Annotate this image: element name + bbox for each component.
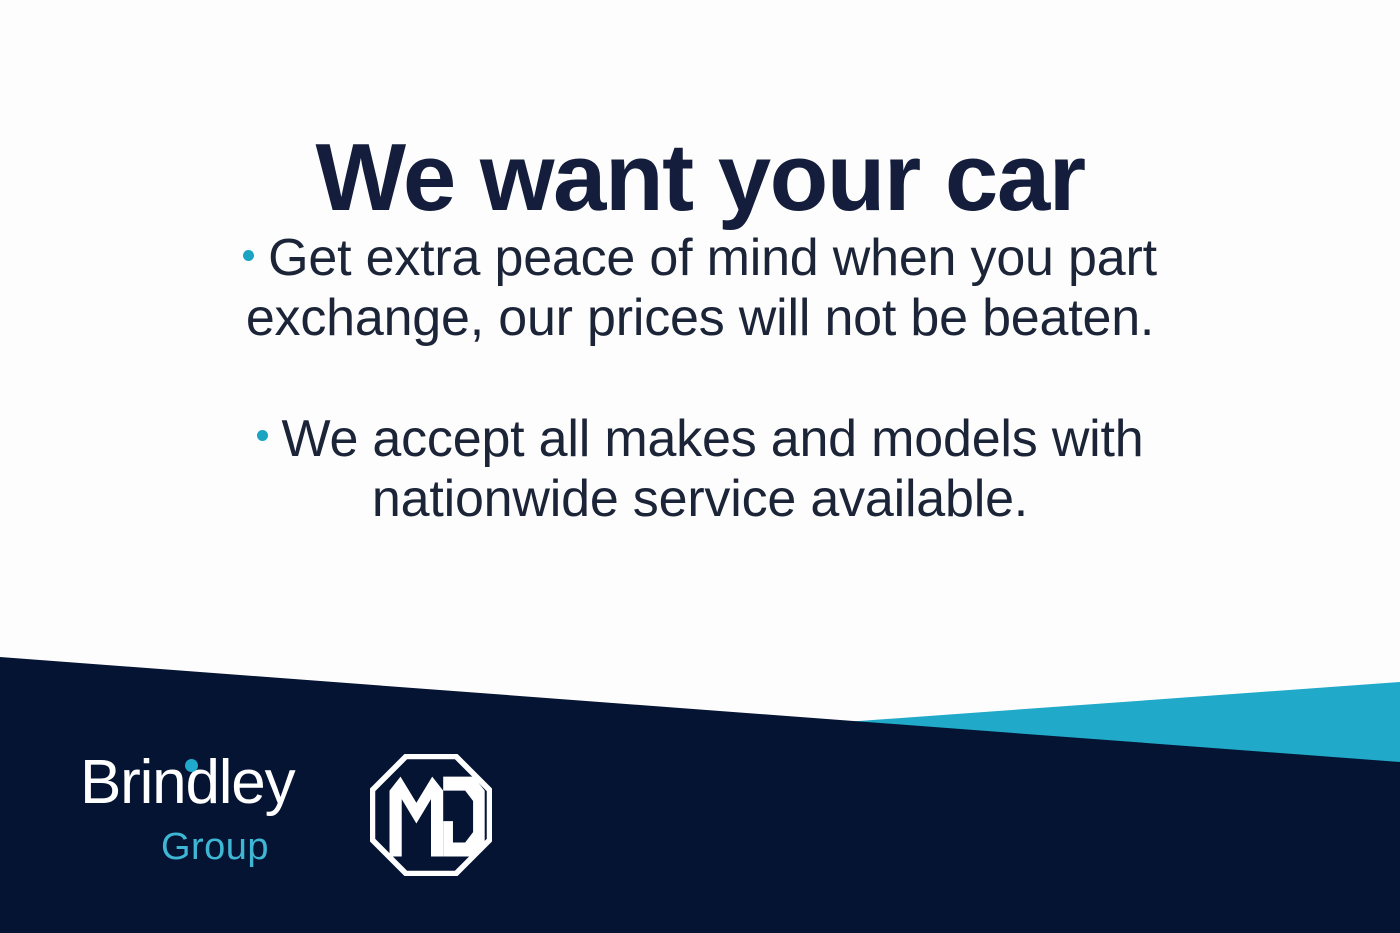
brindley-group-logo: Brindley Group xyxy=(80,752,332,866)
bullet-item-1: Get extra peace of mind when you part ex… xyxy=(150,228,1250,349)
bullet-item-2: We accept all makes and models with nati… xyxy=(150,409,1250,530)
bullet-item-1-text: Get extra peace of mind when you part ex… xyxy=(246,229,1157,347)
bullet-dot-icon xyxy=(257,430,268,441)
brindley-wordmark: Brindley xyxy=(80,752,332,814)
mg-letters xyxy=(390,777,485,857)
promo-slide: We want your car Get extra peace of mind… xyxy=(0,0,1400,933)
headline: We want your car xyxy=(0,128,1400,229)
logo-lockup: Brindley Group xyxy=(80,752,492,876)
bullet-item-2-text: We accept all makes and models with nati… xyxy=(282,410,1144,528)
brindley-group-subtitle: Group xyxy=(80,828,332,866)
bullet-dot-icon xyxy=(243,250,254,261)
mg-logo-icon xyxy=(370,754,492,876)
teal-diagonal-wedge xyxy=(845,682,1400,766)
brindley-i-dot-icon xyxy=(185,759,198,772)
bullet-list: Get extra peace of mind when you part ex… xyxy=(150,228,1250,529)
